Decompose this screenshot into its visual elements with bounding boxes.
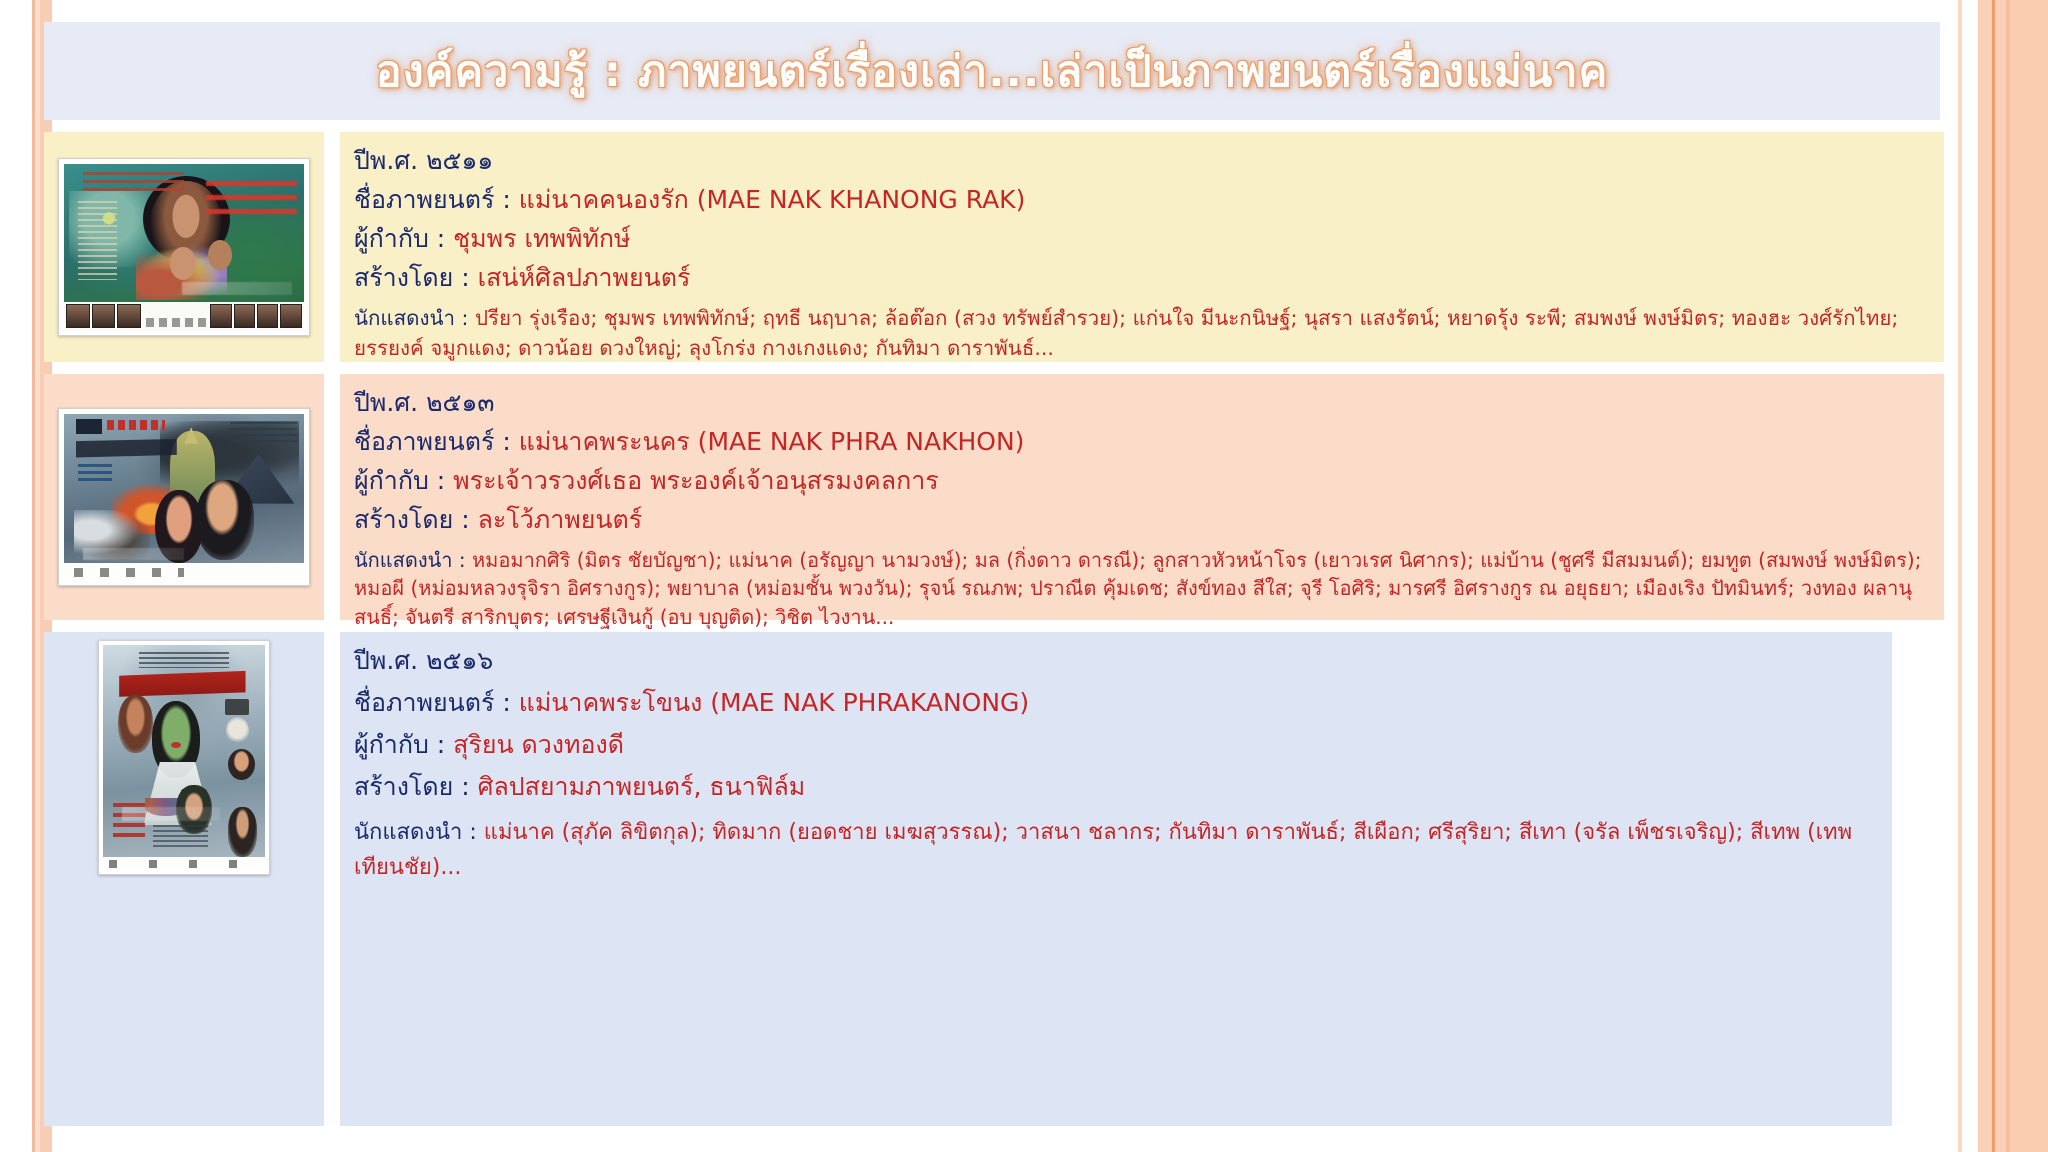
film-year-line: ปีพ.ศ. ๒๕๑๓ — [354, 390, 1926, 415]
poster-thumbnail — [210, 304, 231, 327]
page-title: องค์ความรู้ : ภาพยนตร์เรื่องเล่า...เล่าเ… — [376, 37, 1608, 105]
film-title-value: แม่นาคพระโขนง (MAE NAK PHRAKANONG) — [519, 688, 1029, 717]
film-info-panel: ปีพ.ศ. ๒๕๑๖ ชื่อภาพยนตร์ : แม่นาคพระโขนง… — [340, 632, 1892, 1126]
poster-face-right — [228, 749, 256, 781]
film-entry-row: ปีพ.ศ. ๒๕๑๖ ชื่อภาพยนตร์ : แม่นาคพระโขนง… — [44, 632, 1944, 1126]
film-director-line: ผู้กำกับ : สุริยน ดวงทองดี — [354, 732, 1874, 757]
film-title-line: ชื่อภาพยนตร์ : แม่นาคคนองรัก (MAE NAK KH… — [354, 187, 1926, 212]
director-label: ผู้กำกับ : — [354, 466, 445, 495]
slide-right-border-stripe — [1948, 0, 2048, 1152]
film-title-label: ชื่อภาพยนตร์ : — [354, 427, 511, 456]
poster-thumbnail — [92, 304, 115, 327]
film-producer-line: สร้างโดย : ละโว้ภาพยนตร์ — [354, 507, 1926, 532]
poster-panel — [44, 632, 324, 1126]
poster-left-credits — [78, 464, 112, 484]
slide-root: องค์ความรู้ : ภาพยนตร์เรื่องเล่า...เล่าเ… — [0, 0, 2048, 1152]
film-cast-line: นักแสดงนำ : ปรียา รุ่งเรือง; ชุมพร เทพพิ… — [354, 304, 1926, 363]
film-info-panel: ปีพ.ศ. ๒๕๑๑ ชื่อภาพยนตร์ : แม่นาคคนองรัก… — [340, 132, 1944, 362]
slide-content: องค์ความรู้ : ภาพยนตร์เรื่องเล่า...เล่าเ… — [44, 0, 1944, 1152]
film-title-value: แม่นาคคนองรัก (MAE NAK KHANONG RAK) — [519, 185, 1026, 214]
film-title-value: แม่นาคพระนคร (MAE NAK PHRA NAKHON) — [519, 427, 1025, 456]
director-label: ผู้กำกับ : — [354, 224, 445, 253]
page-title-bar: องค์ความรู้ : ภาพยนตร์เรื่องเล่า...เล่าเ… — [44, 22, 1940, 120]
film-director-line: ผู้กำกับ : ชุมพร เทพพิทักษ์ — [354, 226, 1926, 251]
director-value: สุริยน ดวงทองดี — [453, 730, 624, 759]
poster-left-credits — [78, 201, 116, 281]
year-value: ๒๕๑๑ — [426, 146, 493, 175]
film-cast-line: นักแสดงนำ : แม่นาค (สุภัค ลิขิตกุล); ทิด… — [354, 816, 1874, 886]
poster-watermark — [122, 807, 219, 821]
cast-value: ปรียา รุ่งเรือง; ชุมพร เทพพิทักษ์; ฤทธี … — [354, 306, 1898, 360]
producer-label: สร้างโดย : — [354, 505, 470, 534]
year-value: ๒๕๑๖ — [426, 646, 493, 675]
director-value: ชุมพร เทพพิทักษ์ — [453, 224, 630, 253]
film-entry-row: ปีพ.ศ. ๒๕๑๑ ชื่อภาพยนตร์ : แม่นาคคนองรัก… — [44, 132, 1944, 362]
poster-thai-title-art — [206, 181, 297, 231]
cast-label: นักแสดงนำ : — [354, 306, 468, 330]
column-gap — [324, 374, 340, 620]
producer-value: ละโว้ภาพยนตร์ — [478, 505, 643, 534]
poster-format-badge — [225, 699, 249, 715]
poster-right-credits — [230, 422, 297, 445]
poster-artwork — [64, 414, 304, 580]
poster-panel — [44, 374, 324, 620]
poster-thumbnail-strip-left — [66, 304, 140, 327]
poster-bottom-credits — [153, 825, 208, 848]
year-label: ปีพ.ศ. — [354, 146, 418, 175]
cast-label: นักแสดงนำ : — [354, 820, 477, 845]
producer-label: สร้างโดย : — [354, 772, 470, 801]
year-label: ปีพ.ศ. — [354, 646, 418, 675]
year-value: ๒๕๑๓ — [426, 388, 494, 417]
poster-bottom-caption — [109, 860, 239, 868]
poster-lady-bottom-right — [228, 807, 257, 857]
film-title-line: ชื่อภาพยนตร์ : แม่นาคพระนคร (MAE NAK PHR… — [354, 429, 1926, 454]
poster-thai-title-art — [119, 670, 245, 697]
poster-face-a — [170, 247, 196, 280]
producer-value: ศิลปสยามภาพยนตร์, ธนาฟิล์ม — [478, 772, 806, 801]
director-value: พระเจ้าวรวงศ์เธอ พระองค์เจ้าอนุสรมงคลการ — [453, 466, 939, 495]
poster-watermark — [182, 282, 292, 295]
poster-top-credits — [139, 652, 230, 668]
film-entry-row: ปีพ.ศ. ๒๕๑๓ ชื่อภาพยนตร์ : แม่นาคพระนคร … — [44, 374, 1944, 620]
poster-man-left — [118, 695, 154, 754]
film-cast-line: นักแสดงนำ : หมอมากศิริ (มิตร ชัยบัญชา); … — [354, 546, 1926, 631]
film-title-line: ชื่อภาพยนตร์ : แม่นาคพระโขนง (MAE NAK PH… — [354, 690, 1874, 715]
poster-top-credits — [83, 172, 184, 192]
poster-male-lead — [196, 480, 254, 560]
column-gap — [324, 632, 340, 1126]
film-year-line: ปีพ.ศ. ๒๕๑๖ — [354, 648, 1874, 673]
poster-face-b — [208, 240, 232, 270]
poster-thumbnail — [66, 304, 89, 327]
poster-panel — [44, 132, 324, 362]
poster-mae-nak-khanong-rak — [58, 158, 310, 336]
film-producer-line: สร้างโดย : เสน่ห์ศิลปภาพยนตร์ — [354, 265, 1926, 290]
poster-thumbnail — [117, 304, 140, 327]
poster-studio-logo — [76, 419, 102, 434]
year-label: ปีพ.ศ. — [354, 388, 418, 417]
poster-bottom-caption — [74, 568, 184, 576]
cast-value: แม่นาค (สุภัค ลิขิตกุล); ทิดมาก (ยอดชาย … — [354, 820, 1852, 880]
poster-artwork — [64, 164, 304, 330]
poster-watermark — [83, 548, 184, 560]
cast-label: นักแสดงนำ : — [354, 548, 466, 572]
poster-bottom-caption — [146, 318, 218, 326]
producer-value: เสน่ห์ศิลปภาพยนตร์ — [478, 263, 691, 292]
producer-label: สร้างโดย : — [354, 263, 470, 292]
film-year-line: ปีพ.ศ. ๒๕๑๑ — [354, 148, 1926, 173]
poster-thumbnail — [234, 304, 255, 327]
film-producer-line: สร้างโดย : ศิลปสยามภาพยนตร์, ธนาฟิล์ม — [354, 774, 1874, 799]
poster-mae-nak-phrakanong — [98, 640, 270, 875]
column-gap — [324, 132, 340, 362]
poster-thumbnail-strip-right — [210, 304, 301, 327]
poster-mae-nak-phra-nakhon — [58, 408, 310, 586]
poster-skull — [226, 717, 249, 744]
cast-value: หมอมากศิริ (มิตร ชัยบัญชา); แม่นาค (อรัญ… — [354, 548, 1921, 629]
director-label: ผู้กำกับ : — [354, 730, 445, 759]
film-title-label: ชื่อภาพยนตร์ : — [354, 185, 511, 214]
film-title-label: ชื่อภาพยนตร์ : — [354, 688, 511, 717]
poster-artwork — [103, 645, 265, 870]
poster-ghost-lips — [171, 742, 181, 748]
poster-studio-name — [107, 420, 165, 430]
film-info-panel: ปีพ.ศ. ๒๕๑๓ ชื่อภาพยนตร์ : แม่นาคพระนคร … — [340, 374, 1944, 620]
film-director-line: ผู้กำกับ : พระเจ้าวรวงศ์เธอ พระองค์เจ้าอ… — [354, 468, 1926, 493]
poster-thumbnail — [280, 304, 301, 327]
poster-thumbnail — [257, 304, 278, 327]
